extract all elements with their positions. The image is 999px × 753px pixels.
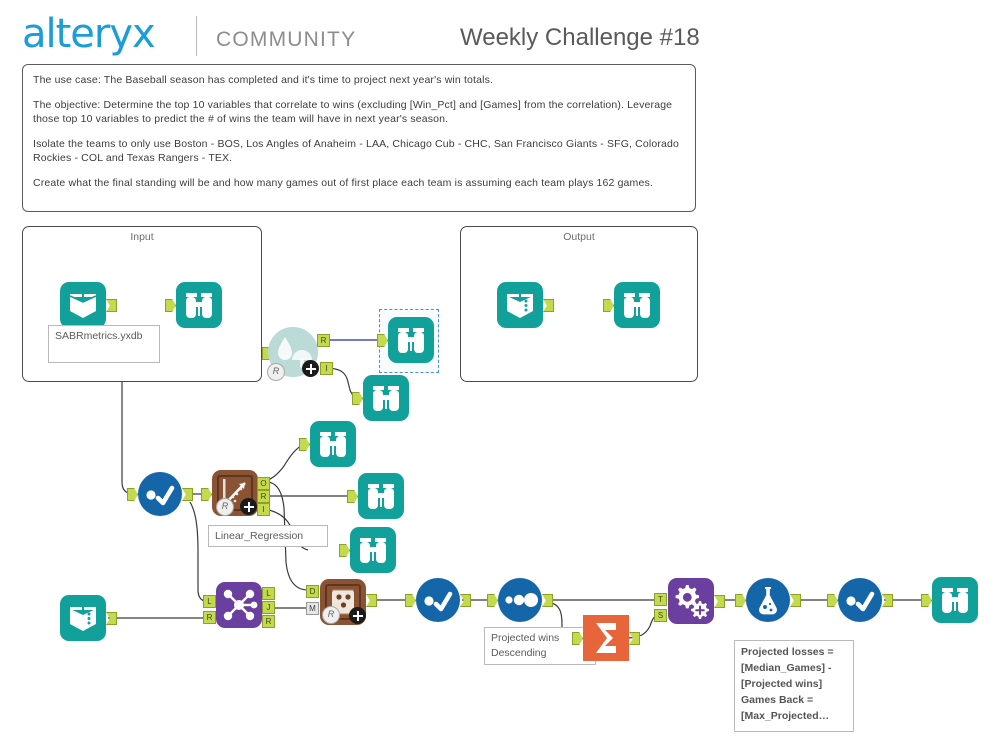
browse-binoculars-icon <box>176 282 222 328</box>
input-anchor[interactable] <box>921 594 932 607</box>
select-check-icon <box>138 472 182 516</box>
output-anchor[interactable] <box>882 594 893 607</box>
sort-dots-icon <box>498 578 542 622</box>
formula-annotation-line: Projected losses = <box>741 644 847 660</box>
input-anchor-r[interactable]: R <box>203 611 216 624</box>
output-anchor[interactable] <box>366 594 377 607</box>
output-anchor[interactable] <box>460 594 471 607</box>
pearson-correlation-tool[interactable]: R R I <box>268 327 318 377</box>
input-anchor-s[interactable]: S <box>654 609 667 622</box>
output-anchor[interactable] <box>542 594 553 607</box>
output-data-tool[interactable] <box>497 282 543 328</box>
input-anchor-m[interactable]: M <box>306 602 319 615</box>
browse-tool-corr-i[interactable] <box>363 375 409 421</box>
linear-regression-annotation: Linear_Regression <box>208 525 328 547</box>
r-badge-icon: R <box>216 498 234 516</box>
plus-badge-icon <box>302 360 319 377</box>
output-anchor[interactable] <box>182 488 193 501</box>
browse-tool-input[interactable] <box>176 282 222 328</box>
input-data-icon <box>60 282 106 328</box>
plus-badge-icon <box>240 498 257 515</box>
browse-tool-lr-r[interactable] <box>358 473 404 519</box>
output-anchor-o[interactable]: O <box>257 477 270 490</box>
page-title: Weekly Challenge #18 <box>460 24 700 52</box>
select-tool-1[interactable] <box>138 472 182 516</box>
input-anchor[interactable] <box>347 490 358 503</box>
summarize-tool[interactable] <box>583 615 629 661</box>
alteryx-logo: alteryx <box>22 14 155 54</box>
append-fields-tool[interactable]: T S <box>668 578 714 624</box>
input-anchor[interactable] <box>735 594 746 607</box>
logo-divider <box>196 16 197 56</box>
plus-badge-icon <box>349 607 366 624</box>
input-data-tool-2[interactable] <box>60 595 106 641</box>
browse-tool-lr-o[interactable] <box>310 421 356 467</box>
browse-binoculars-icon <box>388 317 434 363</box>
challenge-description-box: The use case: The Baseball season has co… <box>22 64 696 212</box>
input-anchor-d[interactable]: D <box>306 585 319 598</box>
community-label: COMMUNITY <box>216 28 356 52</box>
input-anchor[interactable] <box>352 392 363 405</box>
description-paragraph: Isolate the teams to only use Boston - B… <box>33 137 685 165</box>
input-anchor[interactable] <box>827 594 838 607</box>
input-anchor-l[interactable]: L <box>203 595 216 608</box>
output-anchor[interactable] <box>790 594 801 607</box>
input-anchor[interactable] <box>299 438 310 451</box>
output-anchor[interactable] <box>629 632 640 645</box>
sort-annotation-line2: Descending <box>491 646 589 661</box>
formula-flask-icon <box>746 578 790 622</box>
output-anchor-i[interactable]: I <box>257 503 270 516</box>
browse-binoculars-icon <box>358 473 404 519</box>
input-anchor[interactable] <box>201 488 212 501</box>
browse-binoculars-icon <box>614 282 660 328</box>
output-anchor[interactable] <box>714 595 725 608</box>
join-nodes-icon <box>216 582 262 628</box>
description-paragraph: The use case: The Baseball season has co… <box>33 73 685 87</box>
browse-tool-lr-i[interactable] <box>350 527 396 573</box>
output-data-icon <box>497 282 543 328</box>
r-badge-icon: R <box>322 606 340 624</box>
input-anchor[interactable] <box>405 594 416 607</box>
input-anchor[interactable] <box>487 594 498 607</box>
description-paragraph: Create what the final standing will be a… <box>33 176 685 190</box>
browse-tool-final[interactable] <box>932 577 978 623</box>
output-container[interactable]: Output <box>460 226 698 382</box>
formula-annotation-line: Games Back = <box>741 692 847 708</box>
input-data-icon <box>60 595 106 641</box>
input-data-tool[interactable] <box>60 282 106 328</box>
formula-tool[interactable] <box>746 578 790 622</box>
input-data-annotation-text: SABRmetrics.yxdb <box>55 330 143 342</box>
browse-binoculars-icon <box>932 577 978 623</box>
browse-tool-corr-r[interactable] <box>388 317 434 363</box>
input-anchor[interactable] <box>127 488 138 501</box>
input-anchor-t[interactable]: T <box>654 593 667 606</box>
formula-annotation: Projected losses = [Median_Games] - [Pro… <box>734 640 854 732</box>
browse-tool-output[interactable] <box>614 282 660 328</box>
browse-binoculars-icon <box>310 421 356 467</box>
r-badge-icon: R <box>267 363 285 381</box>
select-tool-3[interactable] <box>838 578 882 622</box>
formula-annotation-line: [Median_Games] - <box>741 660 847 676</box>
output-container-title: Output <box>461 231 697 243</box>
select-check-icon <box>838 578 882 622</box>
input-data-annotation: SABRmetrics.yxdb <box>48 325 160 363</box>
workflow-canvas[interactable]: Input SAB <box>0 212 999 753</box>
output-anchor[interactable] <box>106 612 117 625</box>
summarize-sigma-icon <box>583 615 629 661</box>
output-anchor-r[interactable]: R <box>317 334 330 347</box>
score-tool[interactable]: D M R <box>320 579 366 625</box>
input-anchor[interactable] <box>339 544 350 557</box>
output-anchor-i[interactable]: I <box>320 362 333 375</box>
output-anchor-r[interactable]: R <box>262 615 275 628</box>
select-tool-2[interactable] <box>416 578 460 622</box>
browse-binoculars-icon <box>350 527 396 573</box>
select-check-icon <box>416 578 460 622</box>
join-tool[interactable]: L R L J R <box>216 582 262 628</box>
input-container-title: Input <box>23 231 261 243</box>
linear-regression-tool[interactable]: R O R I <box>212 470 258 516</box>
formula-annotation-line: [Projected wins] <box>741 676 847 692</box>
output-anchor-r[interactable]: R <box>257 490 270 503</box>
page-header: alteryx COMMUNITY Weekly Challenge #18 <box>0 0 999 62</box>
description-paragraph: The objective: Determine the top 10 vari… <box>33 98 685 126</box>
sort-tool[interactable] <box>498 578 542 622</box>
output-anchor-l[interactable]: L <box>262 587 275 600</box>
linear-regression-annotation-text: Linear_Regression <box>215 530 303 542</box>
formula-annotation-line: [Max_Projected… <box>741 708 847 724</box>
output-anchor-j[interactable]: J <box>262 601 275 614</box>
browse-binoculars-icon <box>363 375 409 421</box>
gears-icon <box>668 578 714 624</box>
